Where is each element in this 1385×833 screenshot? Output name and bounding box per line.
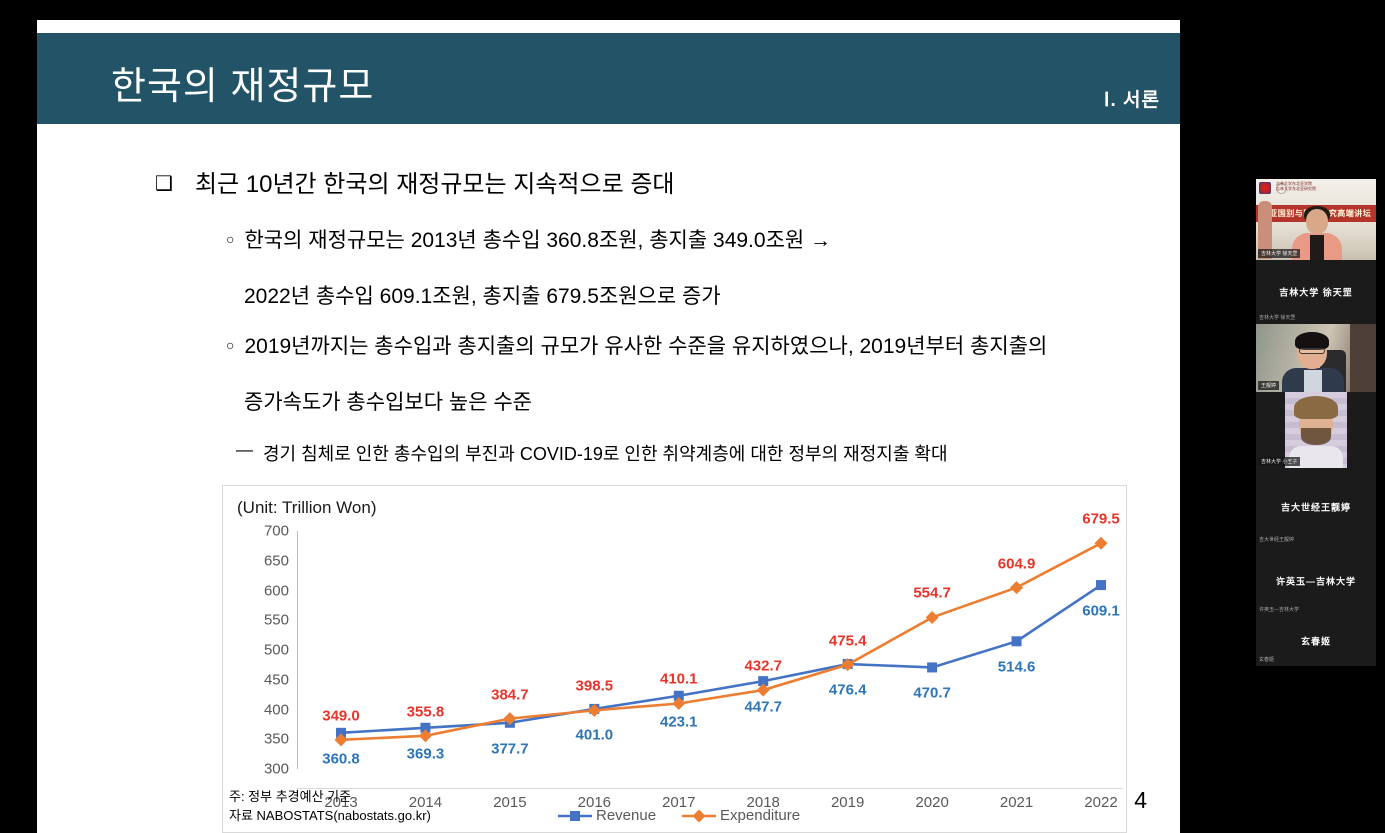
y-axis-tick: 700 xyxy=(264,523,289,540)
participant-name-badge: 吉林大学 徐天罡 xyxy=(1259,314,1295,321)
legend-marker-icon xyxy=(682,809,716,823)
y-axis-tick: 550 xyxy=(264,612,289,629)
data-point-label: 369.3 xyxy=(407,745,445,762)
screen-root: 한국의 재정규모 Ⅰ. 서론 ❑ 최근 10년간 한국의 재정규모는 지속적으로… xyxy=(0,0,1385,833)
slide-header-bar: 한국의 재정규모 Ⅰ. 서론 xyxy=(37,33,1180,124)
participant-name-badge: 吉林大学 小王子 xyxy=(1258,457,1300,466)
legend-marker-icon xyxy=(558,809,592,823)
data-point-marker xyxy=(1010,581,1023,594)
dash-bullet-icon: — xyxy=(236,440,253,460)
section-tag: Ⅰ. 서론 xyxy=(1104,85,1160,112)
data-point-label: 447.7 xyxy=(744,699,782,716)
participant-name-badge: 玄春姬 xyxy=(1259,656,1274,663)
bullet-level2-a-line2: 2022년 총수입 609.1조원, 총지출 679.5조원으로 증가 xyxy=(244,280,721,310)
circle-bullet-icon: ○ xyxy=(226,337,234,353)
data-point-label: 401.0 xyxy=(576,726,614,743)
bullet-level2-b: ○ 2019년까지는 총수입과 총지출의 규모가 유사한 수준을 유지하였으나,… xyxy=(226,333,1047,360)
data-point-label: 398.5 xyxy=(576,678,614,695)
video-tile-audio-1[interactable]: 吉林大学 徐天罡 吉林大学 徐天罡 xyxy=(1256,260,1376,324)
legend-label: Revenue xyxy=(596,807,656,824)
bullet-level2-b-line1: 2019년까지는 총수입과 총지출의 규모가 유사한 수준을 유지하였으나, 2… xyxy=(244,333,1047,360)
data-point-marker xyxy=(1095,537,1108,550)
y-axis-tick: 500 xyxy=(264,642,289,659)
data-point-label: 470.7 xyxy=(913,685,951,702)
data-point-marker xyxy=(1012,636,1022,646)
x-axis-tick: 2020 xyxy=(915,794,948,811)
chart-container: (Unit: Trillion Won) 7006506005505004504… xyxy=(222,485,1127,833)
y-axis-tick: 350 xyxy=(264,731,289,748)
glasses-icon xyxy=(1299,348,1325,354)
page-title: 한국의 재정규모 xyxy=(111,55,374,110)
bullet-level2-a: ○ 한국의 재정규모는 2013년 총수입 360.8조원, 총지출 349.0… xyxy=(226,227,831,254)
participant-shirt xyxy=(1304,370,1322,392)
participant-hair xyxy=(1294,396,1338,419)
bullet-level1-text: 최근 10년간 한국의 재정규모는 지속적으로 증대 xyxy=(195,170,675,200)
series-line-expenditure xyxy=(341,543,1101,740)
data-point-label: 514.6 xyxy=(998,659,1036,676)
x-axis-tick: 2021 xyxy=(1000,794,1033,811)
data-point-label: 377.7 xyxy=(491,740,529,757)
y-axis-tick: 400 xyxy=(264,701,289,718)
page-number: 4 xyxy=(1134,787,1147,814)
series-line-revenue xyxy=(341,585,1101,733)
presenter-inner-top xyxy=(1310,235,1324,260)
data-point-label: 384.7 xyxy=(491,686,529,703)
participant-name: 玄春姬 xyxy=(1256,635,1376,648)
video-tile-participant-3[interactable]: 吉林大学 小王子 xyxy=(1256,392,1376,468)
chart-legend: RevenueExpenditure xyxy=(558,807,800,824)
participant-name-badge: 吉林大学 徐天罡 xyxy=(1258,249,1300,258)
video-tile-audio-4[interactable]: 玄春姬 玄春姬 xyxy=(1256,616,1376,666)
video-tile-presenter[interactable]: 吉林大学东北亚学院吉林大学东北亚研究院 北亚国别与区域研究高端讲坛 吉林大学 徐… xyxy=(1256,179,1376,260)
bullet-level1: ❑ 최근 10년간 한국의 재정규모는 지속적으로 증대 xyxy=(155,170,675,200)
chart-footnotes: 주: 정부 추경예산 기준 자료 NABOSTATS(nabostats.go.… xyxy=(229,788,431,826)
data-point-label: 679.5 xyxy=(1082,511,1120,528)
university-emblem-icon xyxy=(1259,182,1271,194)
participant-name-badge: 许英玉—吉林大学 xyxy=(1259,606,1299,613)
data-point-label: 360.8 xyxy=(322,750,360,767)
data-point-label: 423.1 xyxy=(660,713,698,730)
participant-name: 吉大世经王靓婷 xyxy=(1256,501,1376,514)
y-axis-tick: 300 xyxy=(264,761,289,778)
participant-name: 吉林大学 徐天罡 xyxy=(1256,286,1376,299)
square-bullet-icon: ❑ xyxy=(155,174,173,194)
chart-source: 자료 NABOSTATS(nabostats.go.kr) xyxy=(229,807,431,826)
chart-plot-area: 7006506005505004504003503002013201420152… xyxy=(297,531,1123,769)
banner-org-text: 吉林大学东北亚学院吉林大学东北亚研究院 xyxy=(1276,181,1316,191)
circle-bullet-icon: ○ xyxy=(226,231,234,247)
data-point-label: 349.0 xyxy=(322,707,360,724)
x-axis-tick: 2015 xyxy=(493,794,526,811)
video-tile-audio-2[interactable]: 吉大世经王靓婷 吉大世经王靓婷 xyxy=(1256,468,1376,546)
participant-name-badge: 吉大世经王靓婷 xyxy=(1259,536,1294,543)
data-point-label: 554.7 xyxy=(913,585,951,602)
data-point-label: 475.4 xyxy=(829,632,867,649)
legend-item-revenue[interactable]: Revenue xyxy=(558,807,656,824)
bullet-level2-b-line2: 증가속도가 총수입보다 높은 수준 xyxy=(244,386,532,416)
bullet-level2-a-line1: 한국의 재정규모는 2013년 총수입 360.8조원, 총지출 349.0조원… xyxy=(244,227,831,254)
data-point-marker xyxy=(1096,580,1106,590)
presentation-slide: 한국의 재정규모 Ⅰ. 서론 ❑ 최근 10년간 한국의 재정규모는 지속적으로… xyxy=(37,20,1180,833)
data-point-label: 604.9 xyxy=(998,555,1036,572)
presenter-face xyxy=(1306,209,1328,234)
participant-name: 许英玉—吉林大学 xyxy=(1256,575,1376,588)
x-axis-tick: 2022 xyxy=(1084,794,1117,811)
participant-beard xyxy=(1301,428,1331,445)
video-tile-participant-2[interactable]: 王靓婷 xyxy=(1256,324,1376,392)
y-axis-tick: 650 xyxy=(264,552,289,569)
legend-label: Expenditure xyxy=(720,807,800,824)
data-point-label: 432.7 xyxy=(744,658,782,675)
data-point-label: 410.1 xyxy=(660,671,698,688)
legend-item-expenditure[interactable]: Expenditure xyxy=(682,807,800,824)
bullet-level3-text: 경기 침체로 인한 총수입의 부진과 COVID-19로 인한 취약계층에 대한… xyxy=(263,440,948,466)
video-tile-audio-3[interactable]: 许英玉—吉林大学 许英玉—吉林大学 xyxy=(1256,546,1376,616)
data-point-label: 476.4 xyxy=(829,682,867,699)
data-point-label: 609.1 xyxy=(1082,603,1120,620)
chart-unit-label: (Unit: Trillion Won) xyxy=(237,498,377,518)
y-axis-tick: 600 xyxy=(264,582,289,599)
chart-note: 주: 정부 추경예산 기준 xyxy=(229,788,431,807)
participant-name-badge: 王靓婷 xyxy=(1258,381,1279,390)
bullet-level3: — 경기 침체로 인한 총수입의 부진과 COVID-19로 인한 취약계층에 … xyxy=(236,440,948,466)
x-axis-tick: 2019 xyxy=(831,794,864,811)
data-point-label: 355.8 xyxy=(407,703,445,720)
data-point-marker xyxy=(927,662,937,672)
door-background xyxy=(1350,324,1376,392)
video-conference-panel[interactable]: 吉林大学东北亚学院吉林大学东北亚研究院 北亚国别与区域研究高端讲坛 吉林大学 徐… xyxy=(1256,179,1376,666)
data-point-marker xyxy=(926,611,939,624)
y-axis-tick: 450 xyxy=(264,671,289,688)
